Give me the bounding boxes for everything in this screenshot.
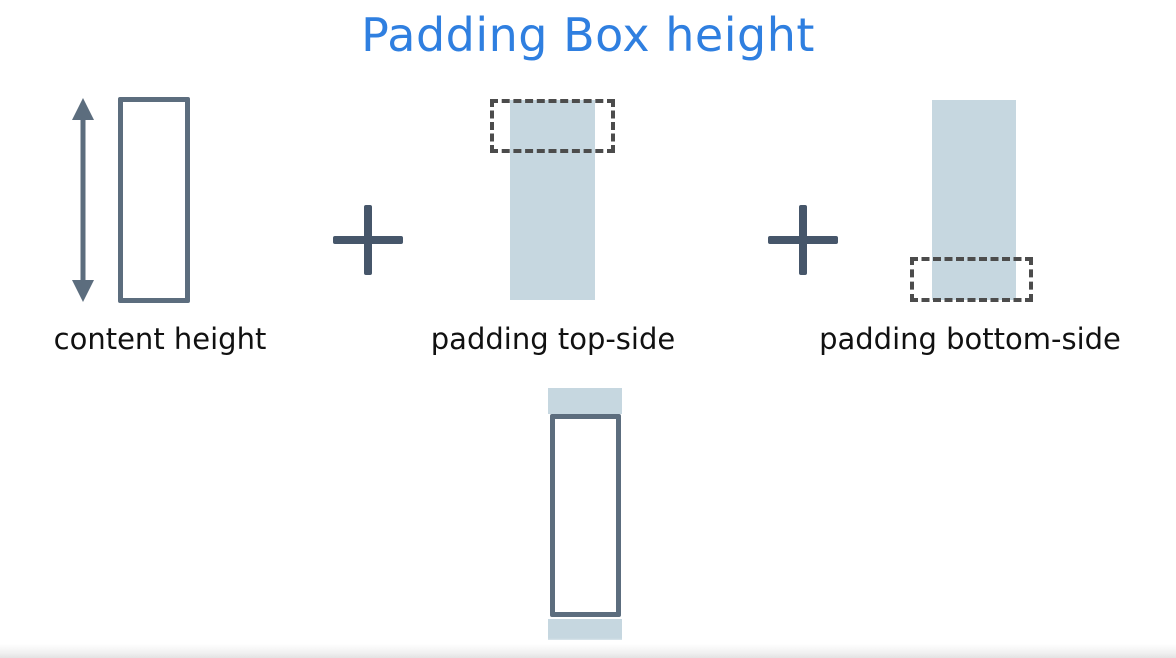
dashed-highlight-top-icon bbox=[490, 99, 615, 153]
caption-padding-top-side: padding top-side bbox=[403, 322, 703, 356]
double-arrow-vertical-icon bbox=[66, 95, 100, 305]
content-box-outline bbox=[118, 97, 190, 303]
page-title: Padding Box height bbox=[0, 8, 1176, 62]
plus-operator-2 bbox=[768, 205, 838, 275]
dashed-highlight-bottom-icon bbox=[910, 257, 1033, 302]
padding-box-result bbox=[548, 388, 628, 640]
viewport-bottom-edge bbox=[0, 638, 1176, 658]
result-padding-band-top bbox=[548, 388, 622, 414]
result-content-box-outline bbox=[550, 414, 621, 617]
plus-vertical-bar bbox=[364, 205, 372, 275]
caption-padding-bottom-side: padding bottom-side bbox=[790, 322, 1150, 356]
result-padding-band-bottom bbox=[548, 619, 622, 640]
plus-operator-1 bbox=[333, 205, 403, 275]
caption-content-height: content height bbox=[0, 322, 320, 356]
plus-vertical-bar bbox=[799, 205, 807, 275]
term-padding-bottom-side bbox=[900, 85, 1060, 320]
term-padding-top-side bbox=[480, 85, 640, 320]
slide-canvas: Padding Box height content height paddin… bbox=[0, 0, 1176, 658]
